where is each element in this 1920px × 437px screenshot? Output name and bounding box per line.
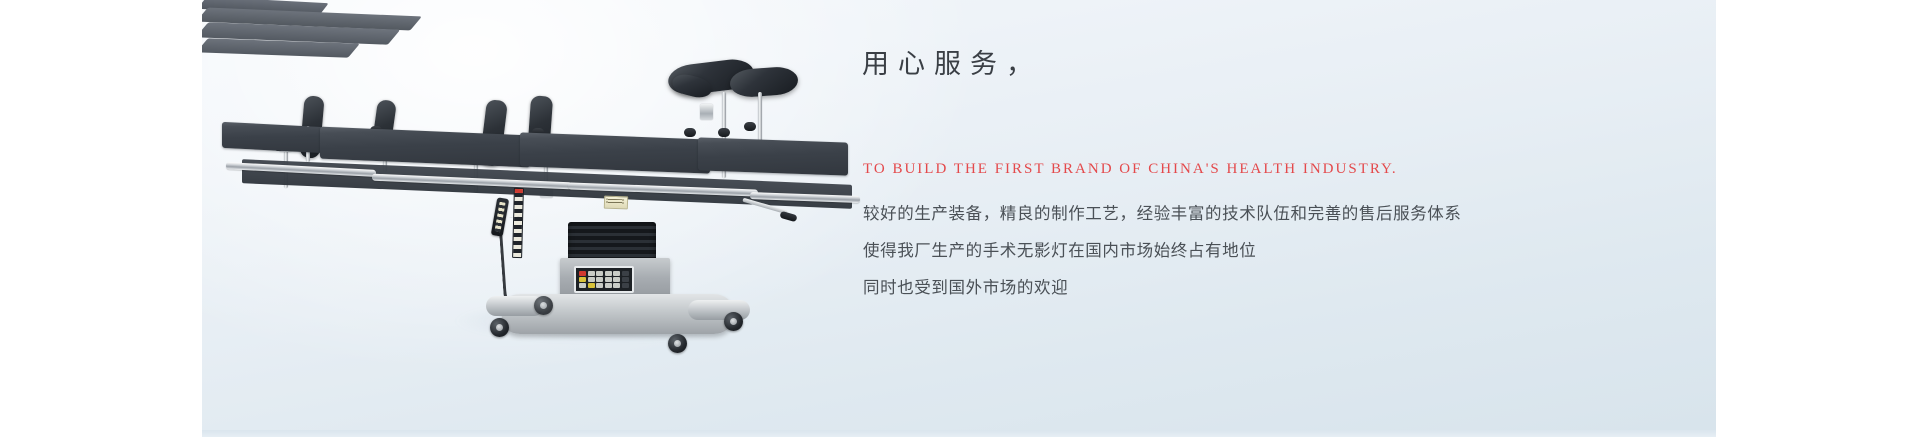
caster-hub <box>674 340 681 347</box>
body-line-1: 较好的生产装备，精良的制作工艺，经验丰富的技术队伍和完善的售后服务体系 <box>863 196 1643 233</box>
keypad-key <box>588 277 595 282</box>
keypad-key <box>596 277 603 282</box>
caster-front-left <box>490 318 509 337</box>
warning-label-text <box>606 199 624 205</box>
banner-headline: 用心服务， <box>862 44 1042 84</box>
keypad-key <box>613 271 620 276</box>
keypad-key <box>588 271 595 276</box>
keypad-key <box>622 283 629 288</box>
banner-tagline-english: TO BUILD THE FIRST BRAND OF CHINA'S HEAL… <box>863 158 1398 180</box>
keypad-key <box>579 271 586 276</box>
keypad-key <box>605 283 612 288</box>
keypad-key <box>613 277 620 282</box>
headrest-cushion-right <box>729 66 799 99</box>
banner-copy: 用心服务， TO BUILD THE FIRST BRAND OF CHINA'… <box>862 0 1682 430</box>
keypad-key <box>596 271 603 276</box>
caster-hub <box>540 302 547 309</box>
product-image-operating-table <box>202 0 862 430</box>
keypad-key <box>605 271 612 276</box>
headrest-clamp <box>700 104 713 120</box>
caster-hub <box>730 318 737 325</box>
table-pad-seat <box>520 132 710 173</box>
hero-banner: 用心服务， TO BUILD THE FIRST BRAND OF CHINA'… <box>202 0 1716 430</box>
keypad-key <box>605 277 612 282</box>
banner-page: 用心服务， TO BUILD THE FIRST BRAND OF CHINA'… <box>0 0 1920 437</box>
headrest-knob-b <box>718 128 730 137</box>
crank-handle-grip <box>779 211 797 222</box>
keypad-key <box>613 283 620 288</box>
keypad-key <box>622 277 629 282</box>
keypad-key <box>588 283 595 288</box>
control-keypad <box>574 266 634 293</box>
keypad-key <box>596 283 603 288</box>
body-line-2: 使得我厂生产的手术无影灯在国内市场始终占有地位 <box>863 233 1643 270</box>
keypad-key <box>579 277 586 282</box>
keypad-key <box>622 271 629 276</box>
headrest-knob-c <box>744 122 756 131</box>
caster-hub <box>496 324 503 331</box>
banner-bottom-edge <box>202 430 1716 437</box>
keypad-key <box>579 283 586 288</box>
caster-front-right <box>668 334 687 353</box>
body-line-3: 同时也受到国外市场的欢迎 <box>863 270 1643 307</box>
headrest-knob-a <box>684 128 696 137</box>
status-led-red <box>515 189 523 193</box>
caster-rear-left <box>534 296 553 315</box>
banner-body-copy: 较好的生产装备，精良的制作工艺，经验丰富的技术队伍和完善的售后服务体系 使得我厂… <box>863 196 1643 307</box>
table-pad-leg <box>698 137 848 175</box>
caster-rear-right <box>724 312 743 331</box>
